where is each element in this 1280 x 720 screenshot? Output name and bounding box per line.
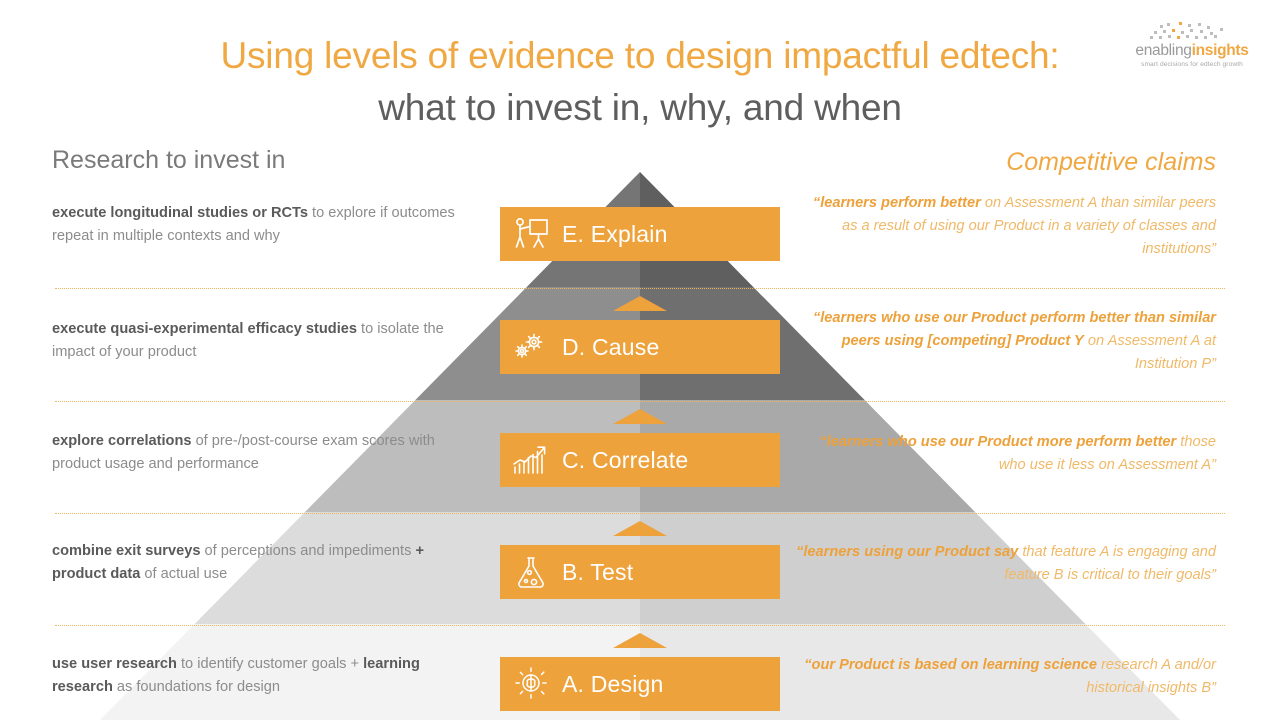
flask-icon: [500, 545, 562, 599]
research-rest-test: of perceptions and impediments: [200, 543, 415, 559]
research-bold-test: combine exit surveys: [52, 543, 200, 559]
level-label-cause: D. Cause: [562, 334, 659, 361]
title-line-2: what to invest in, why, and when: [0, 82, 1280, 134]
page-title: Using levels of evidence to design impac…: [0, 30, 1280, 134]
research-text-correlate: explore correlations of pre-/post-course…: [52, 430, 472, 476]
gears-icon: [500, 320, 562, 374]
logo-dots-icon: [1132, 22, 1252, 42]
research-text-test: combine exit surveys of perceptions and …: [52, 540, 472, 586]
claim-bold-test: “learners using our Product say: [796, 544, 1018, 560]
claim-text-design: “our Product is based on learning scienc…: [796, 654, 1216, 700]
research-bold-design: use user research: [52, 656, 177, 672]
divider-4: [55, 625, 1225, 626]
research-tail-design: as foundations for design: [113, 679, 280, 695]
bar-chart-arrow-icon: [500, 433, 562, 487]
level-bar-cause[interactable]: D. Cause: [500, 320, 780, 374]
presenter-board-icon: [500, 207, 562, 261]
level-bar-design[interactable]: A. Design: [500, 657, 780, 711]
claim-rest-test: that feature A is engaging and feature B…: [1004, 544, 1216, 583]
level-label-explain: E. Explain: [562, 221, 668, 248]
level-label-design: A. Design: [562, 671, 664, 698]
level-label-correlate: C. Correlate: [562, 447, 688, 474]
logo-tagline: smart decisions for edtech growth: [1132, 59, 1252, 71]
title-line-1: Using levels of evidence to design impac…: [0, 30, 1280, 82]
divider-1: [55, 288, 1225, 289]
logo-word-insights: insights: [1192, 42, 1249, 59]
research-bold-cause: execute quasi-experimental efficacy stud…: [52, 321, 357, 337]
up-arrow-to-explain: [613, 296, 667, 311]
research-tail-test: of actual use: [140, 566, 227, 582]
up-arrow-to-correlate: [613, 521, 667, 536]
research-bold-explain: execute longitudinal studies or RCTs: [52, 205, 308, 221]
left-column-header: Research to invest in: [52, 146, 285, 175]
level-bar-explain[interactable]: E. Explain: [500, 207, 780, 261]
logo-wordmark: enablinginsights: [1132, 42, 1252, 59]
claim-text-test: “learners using our Product say that fea…: [796, 541, 1216, 587]
up-arrow-to-cause: [613, 409, 667, 424]
research-rest-design: to identify customer goals +: [177, 656, 363, 672]
claim-bold-explain: “learners perform better: [813, 195, 981, 211]
brand-logo: enablinginsights smart decisions for edt…: [1132, 22, 1252, 71]
claim-rest-design: research A and/or historical insights B”: [1086, 657, 1216, 696]
research-text-design: use user research to identify customer g…: [52, 653, 472, 699]
brain-idea-icon: [500, 657, 562, 711]
claim-bold-design: “our Product is based on learning scienc…: [804, 657, 1097, 673]
research-bold-correlate: explore correlations: [52, 433, 192, 449]
level-bar-test[interactable]: B. Test: [500, 545, 780, 599]
research-text-explain: execute longitudinal studies or RCTs to …: [52, 202, 472, 248]
level-label-test: B. Test: [562, 559, 633, 586]
right-column-header: Competitive claims: [1006, 148, 1216, 177]
claim-text-correlate: “learners who use our Product more perfo…: [796, 431, 1216, 477]
divider-2: [55, 401, 1225, 402]
research-text-cause: execute quasi-experimental efficacy stud…: [52, 318, 472, 364]
claim-rest-cause: on Assessment A at Institution P”: [1084, 333, 1216, 372]
logo-word-enabling: enabling: [1135, 42, 1191, 59]
claim-bold-correlate: “learners who use our Product more perfo…: [819, 434, 1176, 450]
claim-text-cause: “learners who use our Product perform be…: [796, 307, 1216, 376]
divider-3: [55, 513, 1225, 514]
claim-text-explain: “learners perform better on Assessment A…: [796, 192, 1216, 261]
level-bar-correlate[interactable]: C. Correlate: [500, 433, 780, 487]
up-arrow-to-test: [613, 633, 667, 648]
